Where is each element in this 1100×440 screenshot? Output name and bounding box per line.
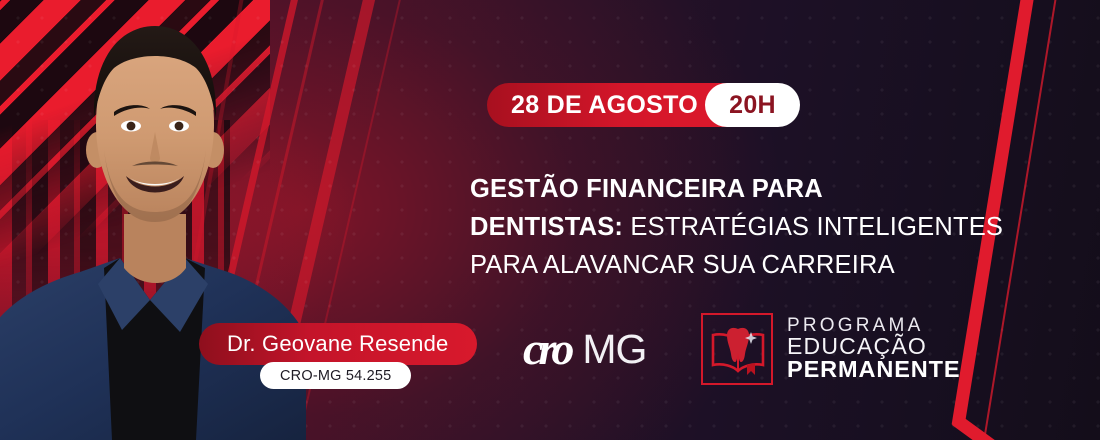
chevron-line-thin-bottom: [986, 436, 1100, 440]
time-label: 20H: [729, 91, 776, 120]
pep-line2: EDUCAÇÃO: [787, 335, 961, 358]
headline-line2-bold: DENTISTAS:: [470, 213, 623, 241]
speaker-registration: CRO-MG 54.255: [280, 368, 391, 384]
page-title: GESTÃO FINANCEIRA PARA DENTISTAS: ESTRAT…: [470, 170, 1030, 284]
pep-line3: PERMANENTE: [787, 358, 961, 382]
headline-line2-regular: ESTRATÉGIAS INTELIGENTES: [630, 213, 1003, 241]
tooth-on-book-icon: [701, 313, 773, 385]
webinar-banner: 28 DE AGOSTO 20H GESTÃO FINANCEIRA PARA …: [0, 0, 1100, 440]
speaker-name-pill: Dr. Geovane Resende: [199, 323, 477, 365]
speaker-name: Dr. Geovane Resende: [227, 331, 449, 357]
speaker-registration-pill: CRO-MG 54.255: [260, 362, 411, 389]
pep-logo: PROGRAMA EDUCAÇÃO PERMANENTE: [701, 313, 961, 385]
time-pill: 20H: [705, 83, 800, 127]
date-badge: 28 DE AGOSTO 20H: [487, 83, 794, 127]
cro-state-label: MG: [582, 329, 646, 370]
cro-mg-logo: cro MG: [523, 326, 646, 372]
date-label: 28 DE AGOSTO: [511, 91, 698, 120]
pep-logo-text: PROGRAMA EDUCAÇÃO PERMANENTE: [787, 316, 961, 383]
chevron-line-thick-bottom: [952, 414, 1081, 440]
headline-line3-regular: PARA ALAVANCAR SUA CARREIRA: [470, 251, 895, 279]
headline-line1-bold: GESTÃO FINANCEIRA PARA: [470, 175, 823, 203]
cro-wordmark: cro: [523, 326, 569, 372]
